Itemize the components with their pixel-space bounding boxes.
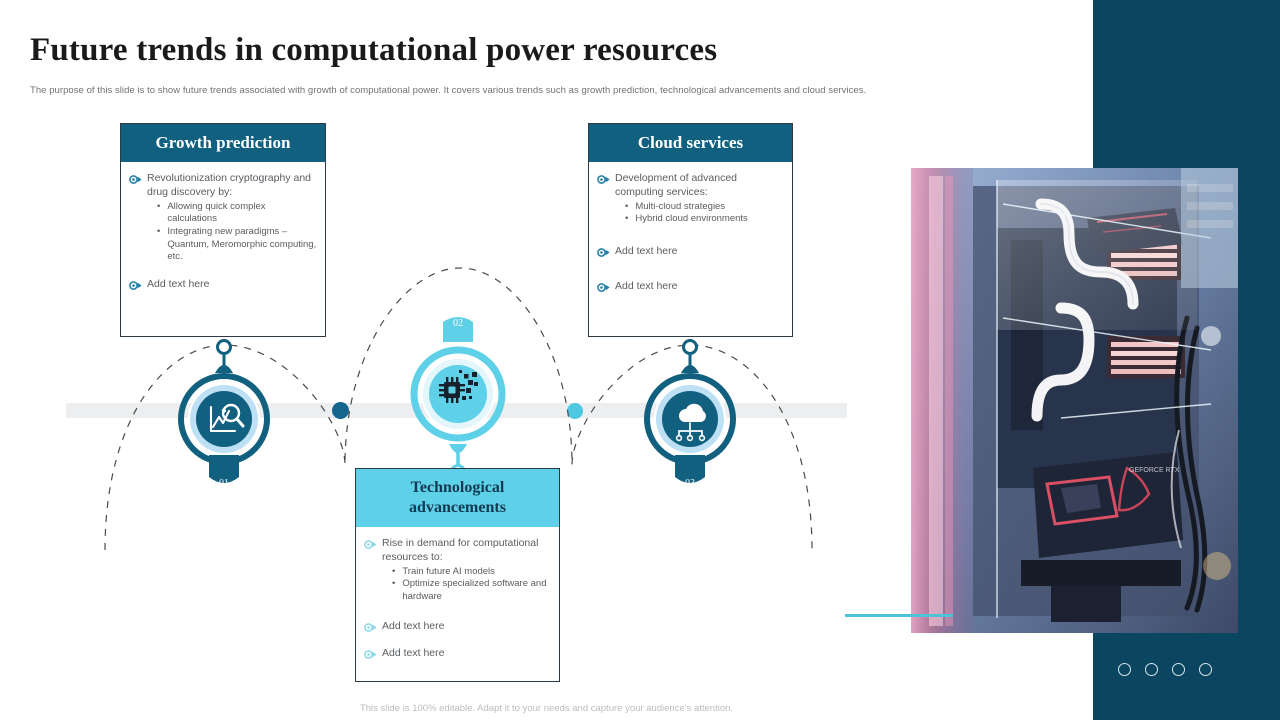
target-arrow-icon: [129, 280, 142, 291]
sub-list-item: • Hybrid cloud environments: [625, 213, 784, 226]
card-body-technological-advancements: Rise in demand for computational resourc…: [356, 527, 559, 671]
pagination-dot-4[interactable]: [1199, 663, 1212, 676]
target-arrow-icon: [129, 174, 142, 185]
sub-list: • Allowing quick complex calculations • …: [157, 201, 317, 264]
slide-root: Future trends in computational power res…: [0, 0, 1280, 720]
card-title-technological-advancements: Technological advancements: [356, 469, 559, 527]
card-body-cloud-services: Development of advanced computing servic…: [589, 162, 792, 304]
sub-list-item: • Train future AI models: [392, 566, 551, 579]
pagination-dots[interactable]: [1118, 663, 1212, 676]
bullet-text: Add text here: [382, 620, 444, 634]
square-bullet-icon: •: [392, 566, 395, 579]
square-bullet-icon: •: [392, 578, 395, 603]
bullet-item: Revolutionization cryptography and drug …: [129, 172, 317, 264]
card-growth-prediction[interactable]: Growth prediction Revolutionization cryp…: [120, 123, 326, 337]
target-arrow-icon: [364, 622, 377, 633]
bullet-text: Add text here: [615, 280, 677, 294]
page-title: Future trends in computational power res…: [30, 32, 717, 69]
bullet-text: Rise in demand for computational resourc…: [382, 537, 551, 565]
card-body-growth-prediction: Revolutionization cryptography and drug …: [121, 162, 325, 302]
pagination-dot-2[interactable]: [1145, 663, 1158, 676]
svg-text:?: ?: [221, 407, 227, 419]
bullet-text: Add text here: [382, 647, 444, 661]
target-arrow-icon: [597, 174, 610, 185]
bullet-text: Add text here: [147, 278, 209, 292]
bullet-item: Add text here: [364, 620, 551, 634]
sub-list-item: • Allowing quick complex calculations: [157, 201, 317, 226]
target-arrow-icon: [597, 247, 610, 258]
sub-list-text: Train future AI models: [402, 566, 495, 579]
node-number-01: 01: [204, 478, 244, 489]
square-bullet-icon: •: [625, 201, 628, 214]
bullet-item: Development of advanced computing servic…: [597, 172, 784, 226]
node-number-02: 02: [438, 318, 478, 329]
target-arrow-icon: [364, 539, 377, 550]
node-growth-prediction[interactable]: ? 01: [163, 337, 285, 502]
sub-list: • Multi-cloud strategies • Hybrid cloud …: [625, 201, 784, 226]
card-technological-advancements[interactable]: Technological advancements Rise in deman…: [355, 468, 560, 682]
sub-list-item: • Integrating new paradigms – Quantum, M…: [157, 226, 317, 264]
card-title-cloud-services: Cloud services: [589, 124, 792, 162]
bullet-text: Development of advanced computing servic…: [615, 172, 784, 200]
sub-list-text: Hybrid cloud environments: [635, 213, 747, 226]
sub-list-text: Allowing quick complex calculations: [167, 201, 317, 226]
bullet-item: Add text here: [597, 280, 784, 294]
gaming-pc-photo: GEFORCE RTX: [911, 168, 1238, 633]
node-technological-advancements[interactable]: 02: [396, 310, 520, 493]
bullet-text: Add text here: [615, 245, 677, 259]
node-number-03: 03: [670, 478, 710, 489]
square-bullet-icon: •: [157, 201, 160, 226]
bullet-item: Add text here: [129, 278, 317, 292]
bullet-item: Add text here: [364, 647, 551, 661]
page-subtitle: The purpose of this slide is to show fut…: [30, 85, 1080, 98]
photo-accent-line: [845, 614, 953, 617]
pagination-dot-1[interactable]: [1118, 663, 1131, 676]
sub-list-text: Integrating new paradigms – Quantum, Mer…: [167, 226, 317, 264]
sub-list-text: Optimize specialized software and hardwa…: [402, 578, 551, 603]
bullet-item: Rise in demand for computational resourc…: [364, 537, 551, 604]
target-arrow-icon: [364, 649, 377, 660]
square-bullet-icon: •: [625, 213, 628, 226]
footer-note: This slide is 100% editable. Adapt it to…: [0, 703, 1093, 714]
sub-list-item: • Optimize specialized software and hard…: [392, 578, 551, 603]
sub-list: • Train future AI models • Optimize spec…: [392, 566, 551, 604]
card-cloud-services[interactable]: Cloud services Development of advanced c…: [588, 123, 793, 337]
sub-list-item: • Multi-cloud strategies: [625, 201, 784, 214]
pagination-dot-3[interactable]: [1172, 663, 1185, 676]
node-cloud-services[interactable]: 03: [629, 337, 751, 502]
card-title-growth-prediction: Growth prediction: [121, 124, 325, 162]
bullet-text: Revolutionization cryptography and drug …: [147, 172, 317, 200]
bullet-item: Add text here: [597, 245, 784, 259]
square-bullet-icon: •: [157, 226, 160, 264]
target-arrow-icon: [597, 282, 610, 293]
sub-list-text: Multi-cloud strategies: [635, 201, 725, 214]
